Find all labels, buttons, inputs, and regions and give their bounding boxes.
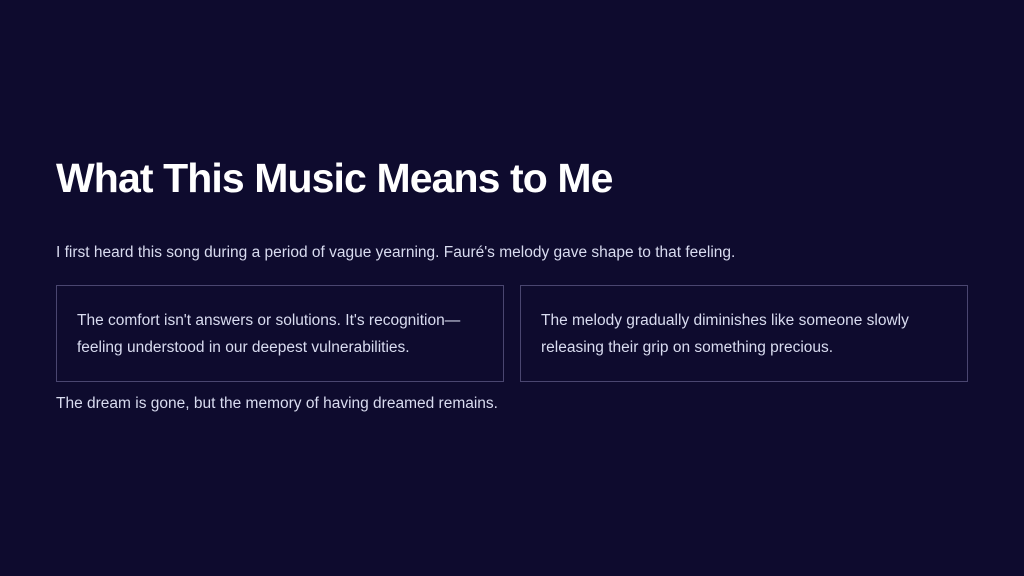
card-row: The comfort isn't answers or solutions. … [56,285,968,382]
page-title: What This Music Means to Me [56,156,613,202]
slide-canvas: What This Music Means to Me I first hear… [0,0,1024,576]
insight-card-right-text: The melody gradually diminishes like som… [541,308,947,361]
insight-card-left-text: The comfort isn't answers or solutions. … [77,308,483,361]
intro-paragraph: I first heard this song during a period … [56,242,735,264]
closing-paragraph: The dream is gone, but the memory of hav… [56,393,498,415]
insight-card-left: The comfort isn't answers or solutions. … [56,285,504,382]
insight-card-right: The melody gradually diminishes like som… [520,285,968,382]
